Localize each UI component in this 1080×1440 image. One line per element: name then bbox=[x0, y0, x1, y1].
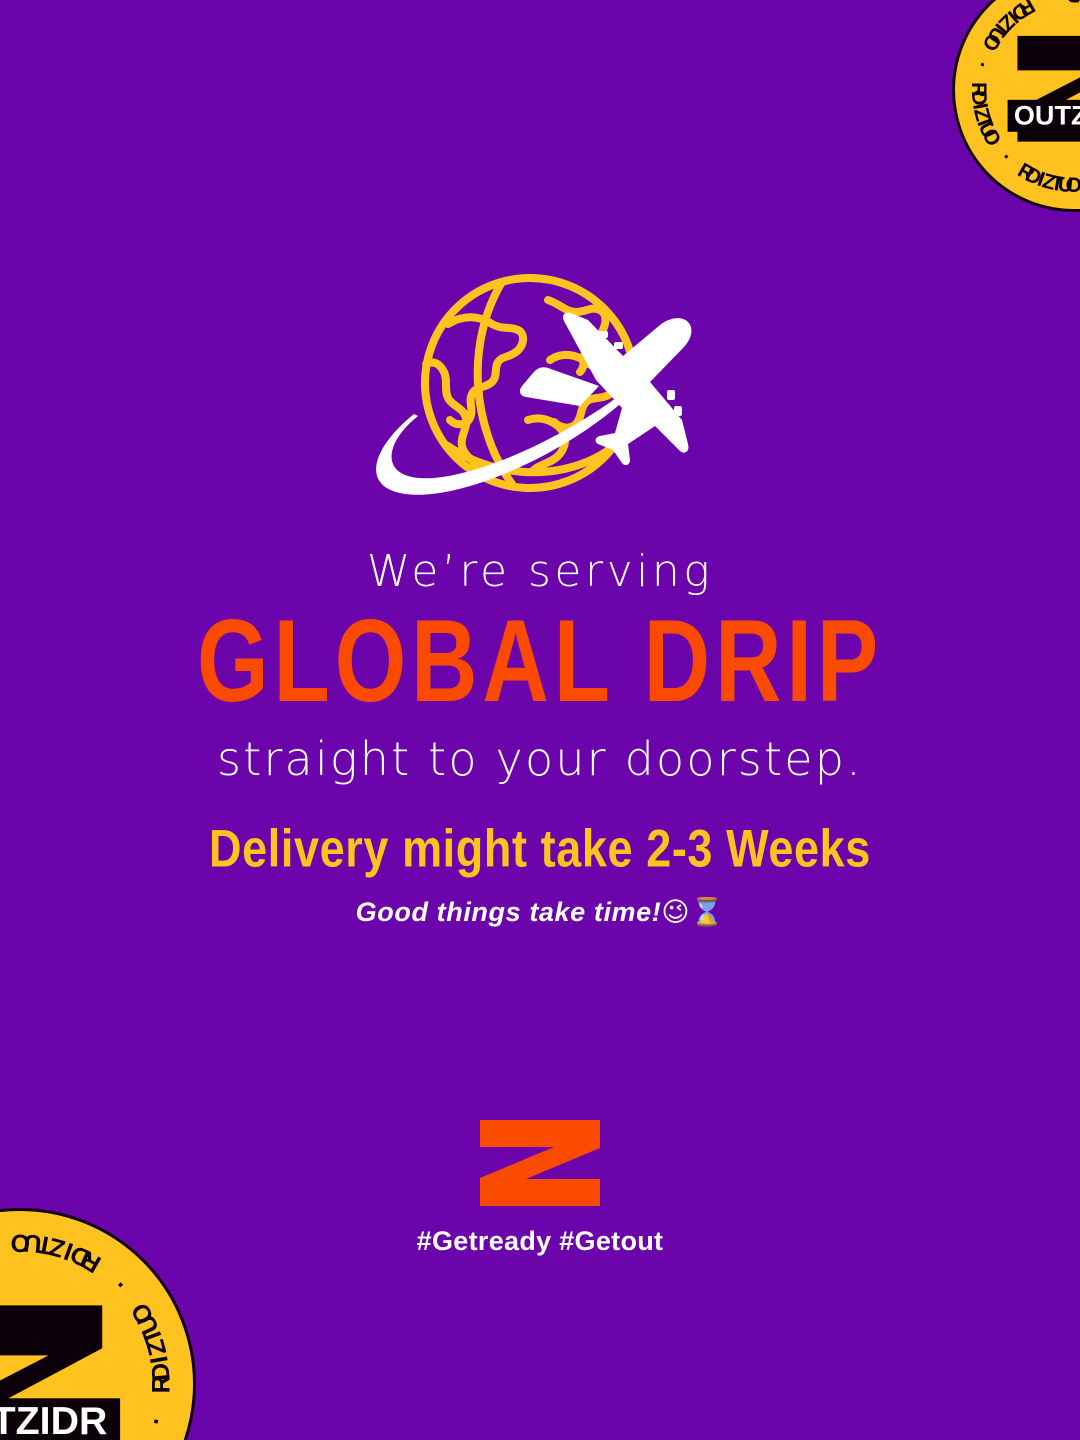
headline-line-1: We’re serving bbox=[0, 548, 1080, 596]
outzidr-z-logo bbox=[478, 1118, 602, 1208]
headline-block: We’re serving GLOBAL DRIP straight to yo… bbox=[0, 548, 1080, 786]
delivery-time-text: Delivery might take 2-3 Weeks bbox=[0, 818, 1080, 879]
poster-canvas: OUTZIDR · OUTZIDR · OUTZIDR · OUTZIDR · … bbox=[0, 0, 1080, 1440]
footer-block: #Getready #Getout bbox=[0, 1118, 1080, 1257]
footer-hashtags: #Getready #Getout bbox=[0, 1226, 1080, 1257]
globe-airplane-illustration bbox=[352, 268, 728, 516]
badge-ring-char: · bbox=[142, 1413, 172, 1429]
badge-ring-char: R bbox=[148, 1375, 177, 1394]
badge-top-right: OUTZIDR · OUTZIDR · OUTZIDR · OUTZIDR · … bbox=[952, 0, 1080, 212]
delivery-emoji: 😉⌛ bbox=[661, 897, 724, 928]
badge-center-label: OUTZIDR bbox=[0, 1399, 107, 1440]
badge-ring-char: R bbox=[966, 82, 990, 98]
outzidr-z-logo: OUTZIDR bbox=[0, 1277, 127, 1440]
badge-ring-char: · bbox=[969, 58, 994, 71]
outzidr-z-logo: OUTZIDR bbox=[1000, 16, 1080, 164]
delivery-subtext: Good things take time!😉⌛ bbox=[0, 896, 1080, 928]
delivery-subtext-label: Good things take time! bbox=[356, 897, 662, 927]
headline-line-2: GLOBAL DRIP bbox=[22, 602, 1059, 721]
delivery-notice-block: Delivery might take 2-3 Weeks Good thing… bbox=[0, 818, 1080, 928]
headline-line-3: straight to your doorstep. bbox=[0, 732, 1080, 786]
badge-ring-char: · bbox=[1042, 0, 1055, 10]
